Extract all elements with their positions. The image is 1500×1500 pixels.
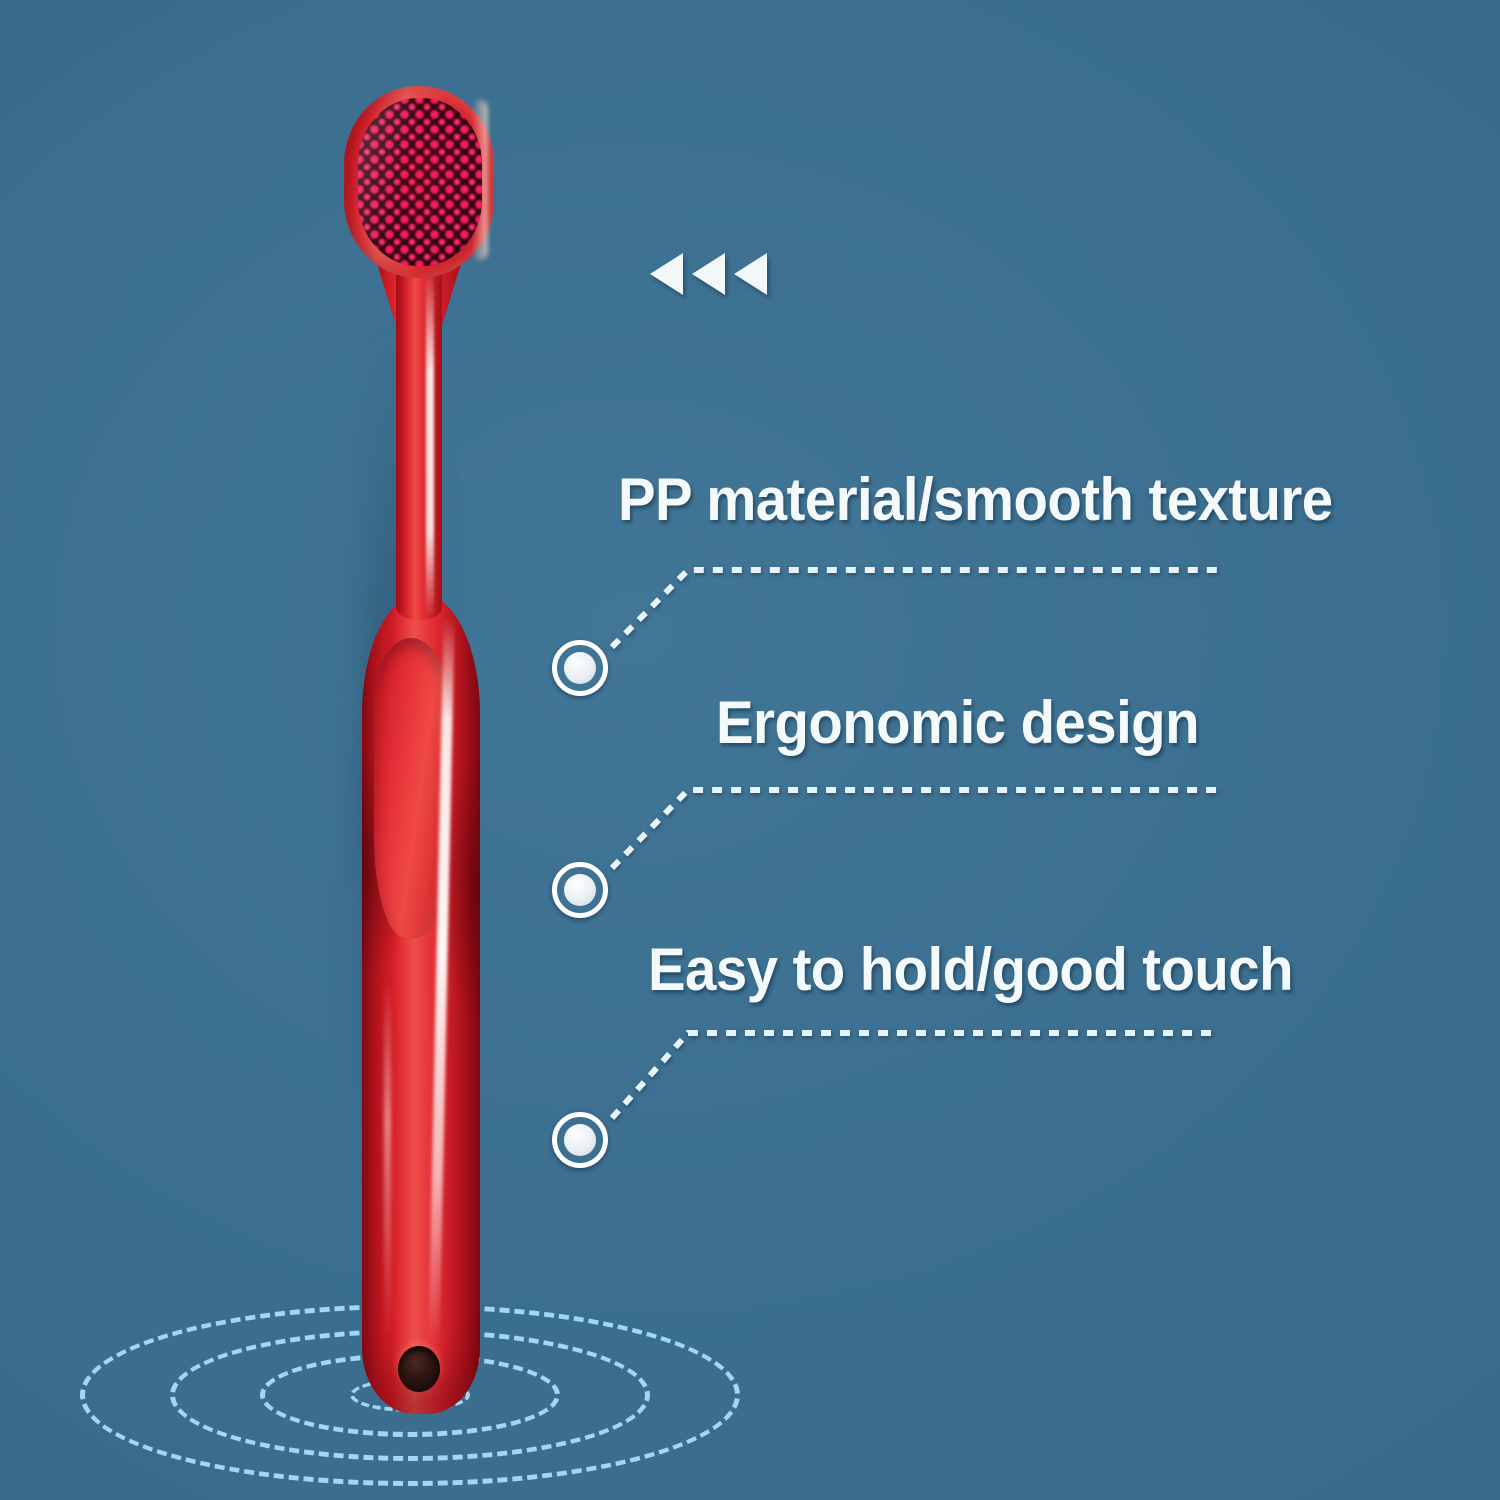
- toothbrush-neck: [396, 260, 442, 620]
- infographic-canvas: PP material/smooth texture Ergonomic des…: [0, 0, 1500, 1500]
- toothbrush-product: [300, 78, 540, 1420]
- callout-label-pp-material: PP material/smooth texture: [618, 465, 1333, 534]
- callout-label-easy-to-hold: Easy to hold/good touch: [648, 935, 1293, 1004]
- callout-marker-2[interactable]: [552, 862, 608, 918]
- hanging-hole: [398, 1346, 440, 1392]
- callout-label-ergonomic-design: Ergonomic design: [716, 688, 1199, 757]
- triangle-left-arrows: [650, 253, 767, 295]
- triangle-left-icon: [734, 253, 767, 295]
- triangle-left-icon: [650, 253, 683, 295]
- triangle-left-icon: [692, 253, 725, 295]
- leader-line-3: [612, 1033, 1218, 1118]
- callout-marker-1[interactable]: [552, 640, 608, 696]
- callout-marker-3[interactable]: [552, 1112, 608, 1168]
- bristle-field: [358, 98, 482, 266]
- leader-line-1: [612, 570, 1218, 647]
- bristle-sheen: [358, 98, 482, 266]
- handle-secondary-highlight: [384, 978, 391, 1338]
- leader-line-2: [612, 790, 1222, 868]
- neck-specular-highlight: [426, 268, 434, 618]
